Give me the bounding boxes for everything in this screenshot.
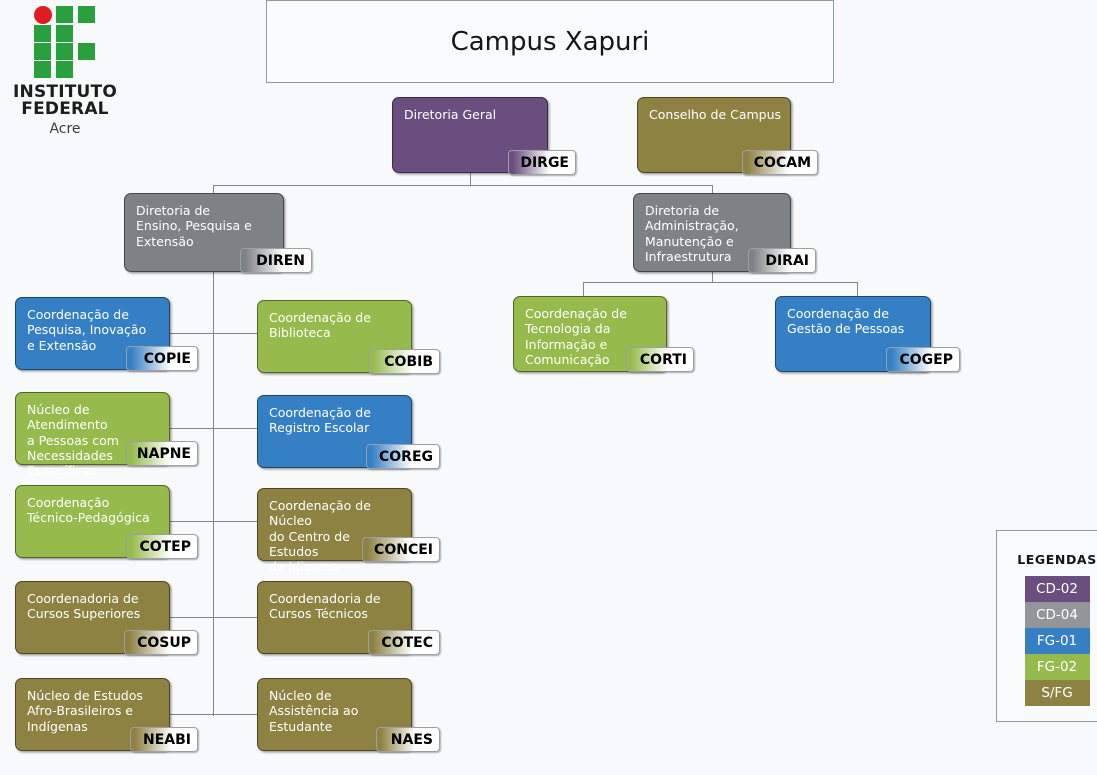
- org-node-label: Coordenação de Biblioteca: [269, 310, 403, 341]
- connector-branch-cobib: [213, 333, 258, 334]
- connector-branch-napne: [170, 428, 214, 429]
- logo-dot-icon: [34, 6, 52, 24]
- legend-item-label: FG-02: [1037, 659, 1077, 675]
- legend-title: LEGENDAS: [997, 552, 1097, 567]
- connector-branch-cotep: [170, 521, 214, 522]
- connector-level1-bus: [213, 185, 713, 186]
- org-node-acronym-cosup[interactable]: COSUP: [124, 630, 198, 655]
- if-logo-mark-icon: [34, 6, 96, 76]
- logo-square-icon: [78, 43, 95, 60]
- org-node-acronym-napne[interactable]: NAPNE: [126, 441, 198, 466]
- logo-square-icon: [56, 25, 73, 42]
- org-node-acronym-coreg[interactable]: COREG: [366, 444, 440, 469]
- legend-rows: CD-02CD-04FG-01FG-02S/FG: [997, 576, 1097, 706]
- legend-panel: LEGENDAS CD-02CD-04FG-01FG-02S/FG: [996, 530, 1097, 722]
- org-node-acronym-concei[interactable]: CONCEI: [362, 537, 440, 562]
- institution-logo: INSTITUTO FEDERAL Acre: [0, 6, 130, 137]
- connector-cogep-drop: [857, 282, 858, 297]
- org-node-label: Conselho de Campus: [649, 107, 782, 122]
- org-node-label: Coordenação de Gestão de Pessoas: [787, 306, 922, 337]
- legend-item-label: FG-01: [1037, 633, 1077, 649]
- connector-branch-naes: [213, 714, 258, 715]
- org-node-acronym-cotec[interactable]: COTEC: [368, 630, 440, 655]
- connector-branch-concei: [213, 521, 258, 522]
- logo-line-2: FEDERAL: [0, 101, 130, 118]
- org-node-acronym-corti[interactable]: CORTI: [626, 347, 694, 372]
- page-title-box: Campus Xapuri: [266, 0, 834, 83]
- logo-square-icon: [78, 6, 95, 23]
- legend-item-s-fg: S/FG: [1025, 680, 1090, 706]
- logo-square-icon: [34, 25, 51, 42]
- logo-square-icon: [34, 43, 51, 60]
- org-node-label: Coordenadoria de Cursos Técnicos: [269, 591, 403, 622]
- logo-campus-state: Acre: [0, 121, 130, 137]
- org-node-acronym-neabi[interactable]: NEABI: [130, 727, 198, 752]
- page-title: Campus Xapuri: [451, 27, 650, 57]
- org-node-acronym-naes[interactable]: NAES: [376, 727, 440, 752]
- legend-item-cd-02: CD-02: [1025, 576, 1090, 602]
- connector-dirge-stem: [470, 173, 471, 185]
- org-node-acronym-cogep[interactable]: COGEP: [886, 347, 960, 372]
- legend-item-cd-04: CD-04: [1025, 602, 1090, 628]
- org-node-label: Coordenadoria de Cursos Superiores: [27, 591, 161, 622]
- connector-branch-neabi: [170, 714, 214, 715]
- connector-branch-cosup: [170, 617, 214, 618]
- org-node-acronym-copie[interactable]: COPIE: [126, 346, 198, 371]
- logo-square-icon: [34, 61, 51, 78]
- logo-square-icon: [56, 43, 73, 60]
- org-node-label: Coordenação de Registro Escolar: [269, 405, 403, 436]
- logo-institution-name: INSTITUTO FEDERAL: [0, 84, 130, 118]
- org-node-acronym-dirge[interactable]: DIRGE: [508, 150, 576, 175]
- org-node-acronym-cobib[interactable]: COBIB: [368, 349, 440, 374]
- connector-branch-coreg: [213, 428, 258, 429]
- legend-item-label: S/FG: [1041, 685, 1072, 701]
- connector-branch-copie: [170, 333, 214, 334]
- connector-left-spine: [213, 272, 214, 716]
- org-node-label: Coordenação Técnico-Pedagógica: [27, 495, 161, 526]
- org-node-acronym-diren[interactable]: DIREN: [240, 248, 312, 273]
- legend-item-fg-02: FG-02: [1025, 654, 1090, 680]
- connector-level2-bus-right: [583, 282, 858, 283]
- org-node-label: Diretoria Geral: [404, 107, 539, 122]
- org-node-label: Diretoria de Ensino, Pesquisa e Extensão: [136, 203, 275, 249]
- legend-item-fg-01: FG-01: [1025, 628, 1090, 654]
- legend-item-label: CD-02: [1036, 581, 1078, 597]
- logo-square-icon: [56, 61, 73, 78]
- connector-branch-cotec: [213, 617, 258, 618]
- connector-corti-drop: [583, 282, 584, 297]
- org-node-acronym-cocam[interactable]: COCAM: [742, 150, 818, 175]
- org-node-acronym-cotep[interactable]: COTEP: [126, 534, 198, 559]
- legend-item-label: CD-04: [1036, 607, 1078, 623]
- org-node-acronym-dirai[interactable]: DIRAI: [748, 248, 816, 273]
- logo-square-icon: [56, 6, 73, 23]
